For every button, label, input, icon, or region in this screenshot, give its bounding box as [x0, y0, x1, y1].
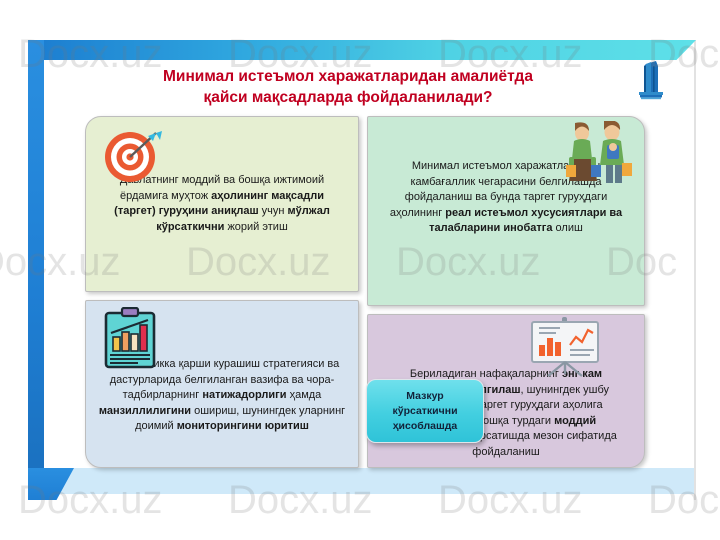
center-badge-text: Мазкур кўрсаткични ҳисоблашда — [392, 389, 457, 434]
target-dartboard-icon — [100, 125, 166, 187]
center-badge-line-3: ҳисоблашда — [393, 420, 458, 432]
quadrant-grid: Давлатнинг моддий ва бошқа ижтимоий ёрда… — [85, 116, 645, 468]
page-title-line-1: Минимал истеъмол харажатларидан амалиётд… — [163, 68, 533, 85]
left-accent-rail — [28, 40, 44, 500]
panel-top-right[interactable]: Минимал истеъмол харажатларидан камбағал… — [367, 116, 645, 306]
panel-top-left[interactable]: Давлатнинг моддий ва бошқа ижтимоий ёрда… — [85, 116, 359, 292]
center-badge-line-2: кўрсаткични — [392, 405, 457, 417]
family-shopping-icon — [560, 121, 634, 187]
bottom-accent-strip — [44, 468, 696, 494]
building-tower-logo — [634, 58, 668, 102]
page-title: Минимал истеъмол харажатларидан амалиётд… — [68, 66, 628, 108]
clipboard-bar-chart-icon — [102, 307, 162, 369]
page-title-line-2: қайси мақсадларда фойдаланилади? — [68, 87, 628, 108]
center-badge-line-1: Мазкур — [406, 390, 443, 402]
slide-canvas: Минимал истеъмол харажатларидан амалиётд… — [28, 22, 696, 500]
panel-bottom-left[interactable]: Камбағаликка қарши курашиш стратегияси в… — [85, 300, 359, 468]
right-edge-line — [694, 40, 696, 500]
center-badge[interactable]: Мазкур кўрсаткични ҳисоблашда — [366, 379, 484, 443]
presentation-board-chart-icon — [526, 317, 604, 379]
top-gradient-ribbon — [44, 40, 696, 60]
